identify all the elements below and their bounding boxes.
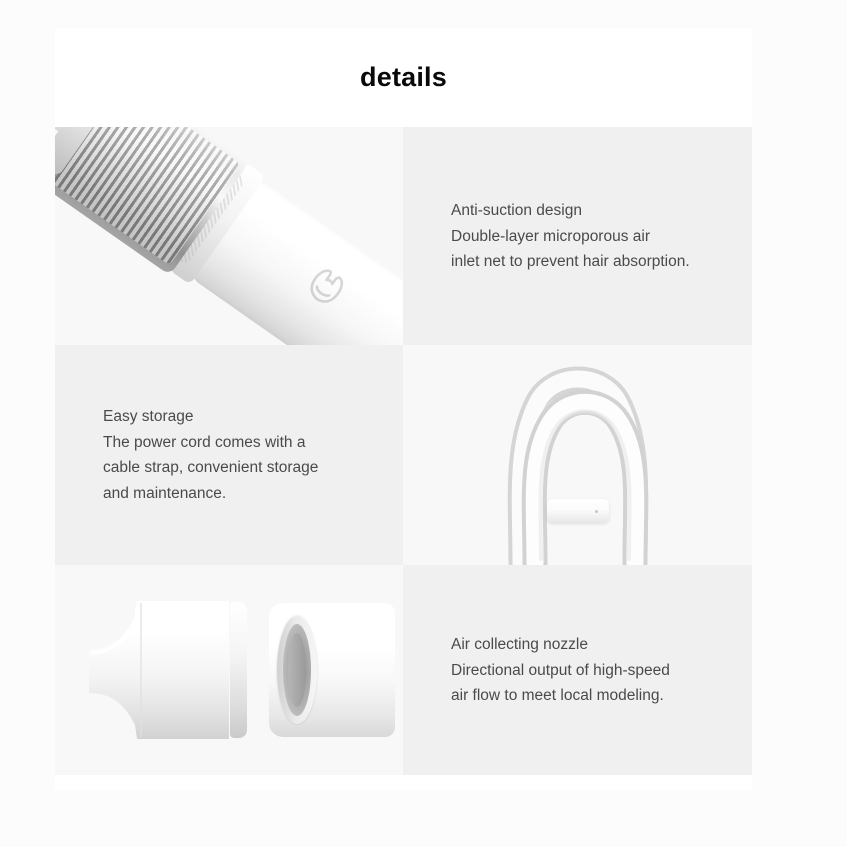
feature-text-nozzle: Air collecting nozzle Directional output… <box>403 565 752 775</box>
feature-image-nozzle <box>55 565 403 775</box>
dryer-barrel-shape <box>269 603 395 737</box>
feature-description-line: and maintenance. <box>103 481 389 507</box>
nozzle-collar-ring <box>230 602 247 738</box>
page-title: details <box>360 64 447 91</box>
feature-description-line: air flow to meet local modeling. <box>451 683 738 709</box>
content-sheet: details <box>55 28 752 790</box>
product-detail-page: details <box>0 0 847 847</box>
barrel-bore-inner <box>288 633 306 707</box>
feature-image-easy-storage <box>403 345 752 565</box>
feature-heading: Anti-suction design <box>451 198 738 224</box>
feature-grid: Anti-suction design Double-layer micropo… <box>55 127 752 775</box>
details-header: details <box>55 28 752 127</box>
feature-heading: Easy storage <box>103 404 389 430</box>
concentrator-nozzle-image <box>55 565 403 775</box>
nozzle-cone-shape <box>89 597 247 743</box>
feature-description-line: Double-layer microporous air <box>451 223 738 249</box>
cable-strap <box>547 499 609 523</box>
feature-description-line: Directional output of high-speed <box>451 657 738 683</box>
feature-description-line: The power cord comes with a <box>103 430 389 456</box>
coiled-power-cord-image <box>403 345 752 565</box>
feature-description-line: cable strap, convenient storage <box>103 455 389 481</box>
feature-heading: Air collecting nozzle <box>451 632 738 658</box>
hair-dryer-air-inlet-image <box>55 127 403 345</box>
feature-description-line: inlet net to prevent hair absorption. <box>451 249 738 275</box>
cable-loop-shape <box>463 351 693 565</box>
feature-text-easy-storage: Easy storage The power cord comes with a… <box>55 345 403 565</box>
feature-image-anti-suction <box>55 127 403 345</box>
feature-text-anti-suction: Anti-suction design Double-layer micropo… <box>403 127 752 345</box>
cable-strap-dot <box>595 510 598 513</box>
